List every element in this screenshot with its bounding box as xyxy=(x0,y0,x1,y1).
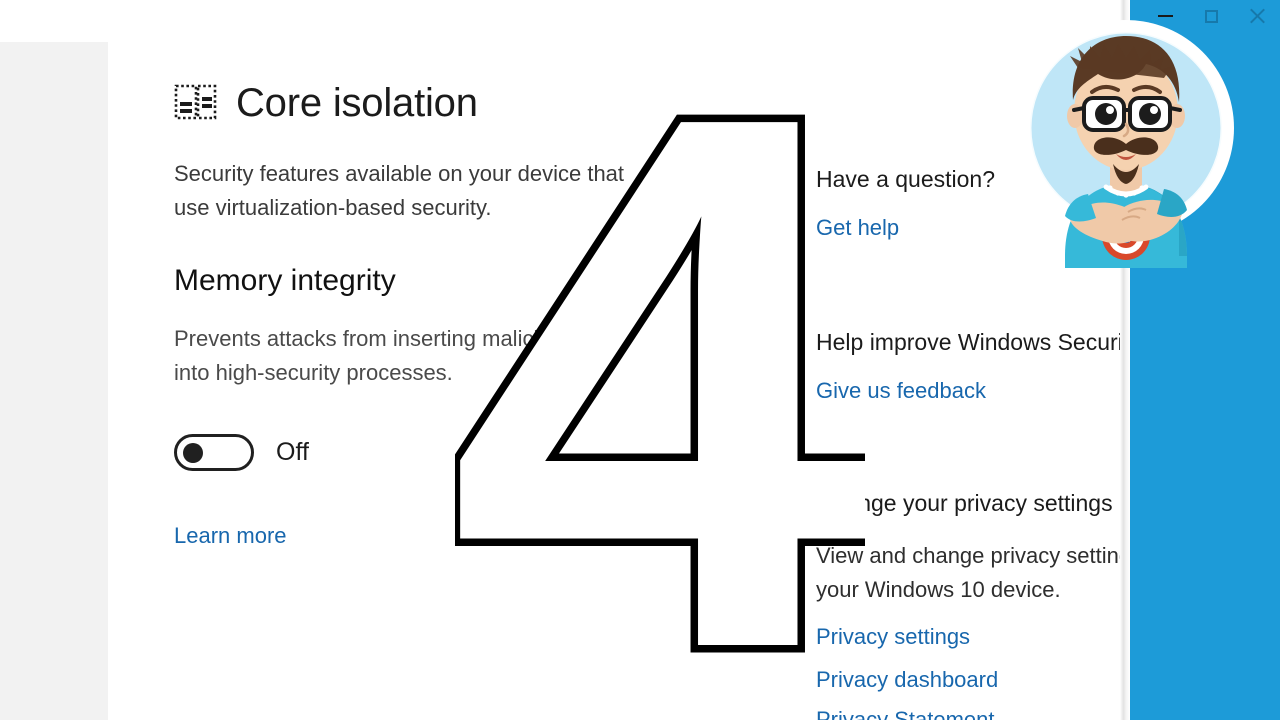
learn-more-link[interactable]: Learn more xyxy=(174,523,287,549)
privacy-statement-link[interactable]: Privacy Statement xyxy=(816,707,995,720)
have-a-question-block: Have a question? Get help xyxy=(816,168,995,241)
close-icon xyxy=(1249,8,1265,24)
have-a-question-heading: Have a question? xyxy=(816,168,995,191)
memory-integrity-description: Prevents attacks from inserting maliciou… xyxy=(174,322,644,390)
memory-integrity-toggle[interactable] xyxy=(174,434,254,471)
minimize-icon xyxy=(1158,15,1173,17)
page-description: Security features available on your devi… xyxy=(174,157,644,225)
windows-security-core-isolation-page: Core isolation Security features availab… xyxy=(0,0,1280,720)
maximize-icon xyxy=(1205,10,1218,23)
toggle-knob xyxy=(183,443,203,463)
help-improve-block: Help improve Windows Security Give us fe… xyxy=(816,331,1141,404)
give-us-feedback-link[interactable]: Give us feedback xyxy=(816,378,1141,404)
window-caption-bar xyxy=(1000,0,1280,32)
avatar xyxy=(1018,8,1234,280)
help-improve-heading: Help improve Windows Security xyxy=(816,331,1141,354)
page-header: Core isolation xyxy=(174,82,814,124)
page-title: Core isolation xyxy=(236,83,478,123)
main-content: Core isolation Security features availab… xyxy=(174,0,814,720)
memory-integrity-heading: Memory integrity xyxy=(174,266,814,296)
core-isolation-icon xyxy=(174,82,218,124)
maximize-button[interactable] xyxy=(1188,0,1234,32)
left-navigation-rail xyxy=(0,42,108,720)
memory-integrity-toggle-row: Off xyxy=(174,434,814,471)
close-button[interactable] xyxy=(1234,0,1280,32)
get-help-link[interactable]: Get help xyxy=(816,215,995,241)
toggle-state-label: Off xyxy=(276,438,309,467)
minimize-button[interactable] xyxy=(1142,0,1188,32)
